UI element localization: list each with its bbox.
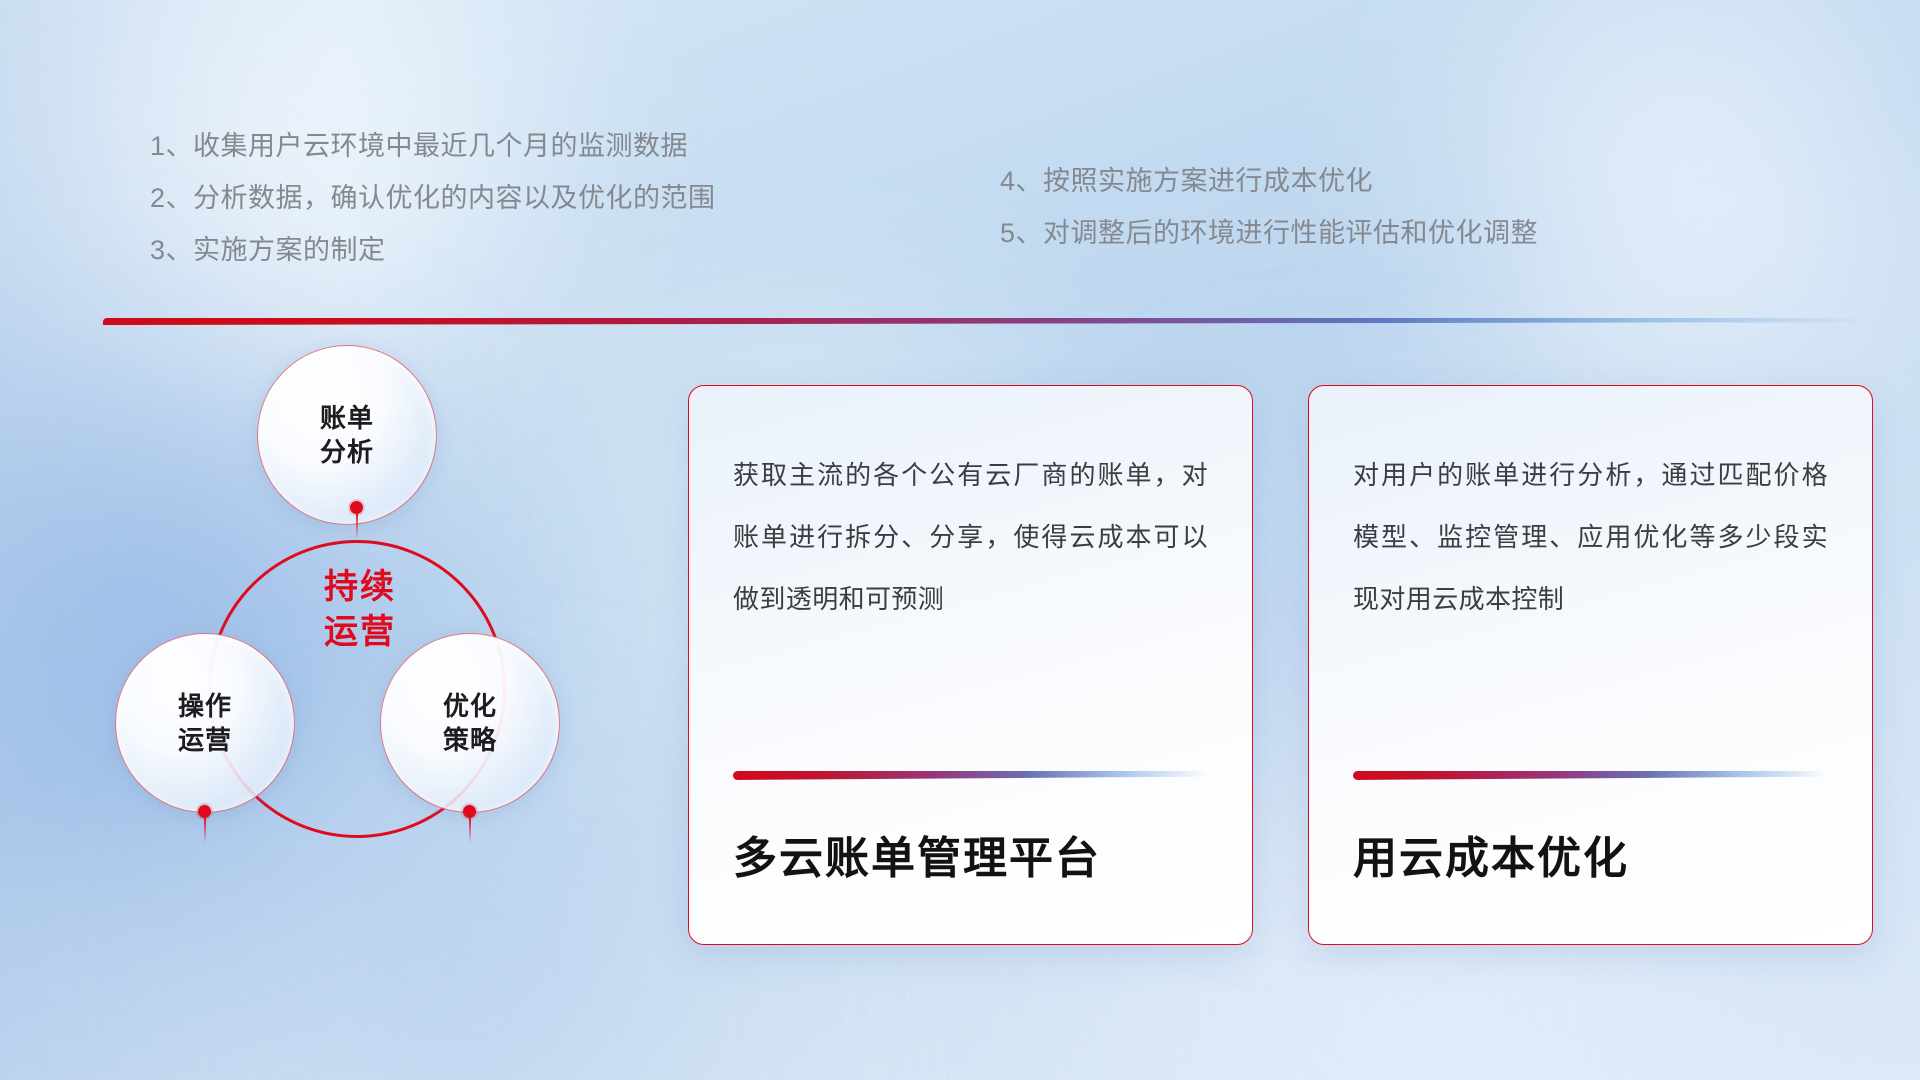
- card-title: 用云成本优化: [1353, 822, 1828, 886]
- connector-tick-bottom-right: [469, 817, 471, 843]
- connector-tick-bottom-left: [204, 817, 206, 843]
- list-item: 4、按照实施方案进行成本优化: [1000, 155, 1538, 207]
- venn-circle-diagram: 持续 运营 账单 分析 操作 运营 优化 策略: [100, 355, 620, 935]
- connector-tick-top: [356, 513, 358, 539]
- feature-card-multicloud-billing[interactable]: 获取主流的各个公有云厂商的账单，对账单进行拆分、分享，使得云成本可以做到透明和可…: [688, 385, 1253, 945]
- steps-list-right: 4、按照实施方案进行成本优化 5、对调整后的环境进行性能评估和优化调整: [1000, 155, 1538, 259]
- diagram-center-label: 持续 运营: [295, 565, 425, 655]
- diagram-node-top-label: 账单 分析: [320, 401, 374, 469]
- steps-list-left: 1、收集用户云环境中最近几个月的监测数据 2、分析数据，确认优化的内容以及优化的…: [150, 120, 716, 276]
- connector-dot-top: [350, 501, 363, 514]
- diagram-node-top[interactable]: 账单 分析: [257, 345, 437, 525]
- node-top-line-2: 分析: [320, 435, 374, 469]
- list-item: 2、分析数据，确认优化的内容以及优化的范围: [150, 172, 716, 224]
- diagram-node-right[interactable]: 优化 策略: [380, 633, 560, 813]
- diagram-node-right-label: 优化 策略: [443, 689, 497, 757]
- feature-card-cost-optimization[interactable]: 对用户的账单进行分析，通过匹配价格模型、监控管理、应用优化等多少段实现对用云成本…: [1308, 385, 1873, 945]
- list-item: 3、实施方案的制定: [150, 224, 716, 276]
- center-label-line-1: 持续: [295, 565, 425, 610]
- card-title: 多云账单管理平台: [733, 822, 1208, 886]
- connector-dot-bottom-right: [463, 805, 476, 818]
- list-item: 5、对调整后的环境进行性能评估和优化调整: [1000, 207, 1538, 259]
- card-accent-rule: [1353, 771, 1828, 780]
- connector-dot-bottom-left: [198, 805, 211, 818]
- card-body-text: 对用户的账单进行分析，通过匹配价格模型、监控管理、应用优化等多少段实现对用云成本…: [1353, 444, 1828, 630]
- diagram-node-left[interactable]: 操作 运营: [115, 633, 295, 813]
- node-top-line-1: 账单: [320, 401, 374, 435]
- node-right-line-2: 策略: [443, 723, 497, 757]
- node-left-line-2: 运营: [178, 723, 232, 757]
- diagram-node-left-label: 操作 运营: [178, 689, 232, 757]
- node-right-line-1: 优化: [443, 689, 497, 723]
- card-accent-rule: [733, 771, 1208, 780]
- node-left-line-1: 操作: [178, 689, 232, 723]
- center-label-line-2: 运营: [295, 610, 425, 655]
- list-item: 1、收集用户云环境中最近几个月的监测数据: [150, 120, 716, 172]
- card-body-text: 获取主流的各个公有云厂商的账单，对账单进行拆分、分享，使得云成本可以做到透明和可…: [733, 444, 1208, 630]
